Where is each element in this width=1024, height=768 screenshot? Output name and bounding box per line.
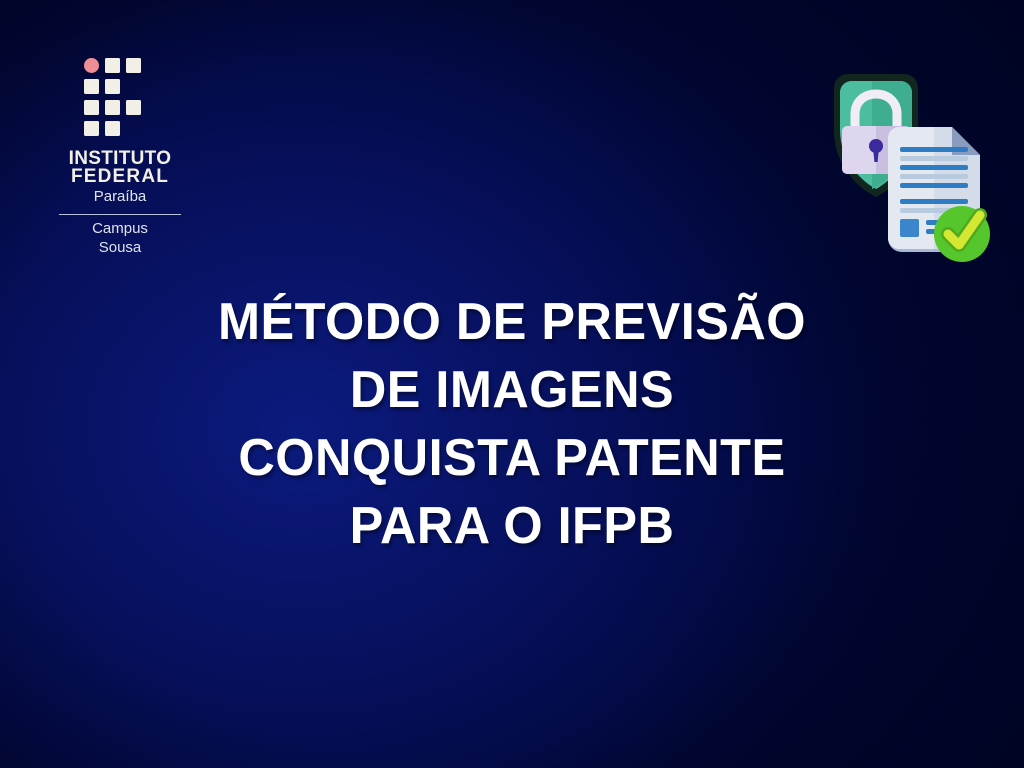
patent-security-illustration (784, 52, 1000, 268)
logo-square (126, 58, 141, 73)
logo-square (105, 58, 120, 73)
logo-square (84, 100, 99, 115)
logo-institution-name: INSTITUTO FEDERAL (50, 150, 190, 186)
logo-square (126, 100, 141, 115)
logo-dot-icon (84, 58, 99, 73)
logo-square (105, 100, 120, 115)
announcement-title: MÉTODO DE PREVISÃO DE IMAGENS CONQUISTA … (0, 288, 1024, 560)
title-line-2: DE IMAGENS (15, 356, 1008, 424)
logo-institution-line2: FEDERAL (50, 168, 190, 186)
check-circle-icon (934, 206, 990, 262)
logo-divider (59, 214, 181, 216)
logo-campus: Campus Sousa (50, 220, 190, 257)
title-line-3: CONQUISTA PATENTE (15, 424, 1008, 492)
logo-square (84, 79, 99, 94)
title-line-1: MÉTODO DE PREVISÃO (15, 288, 1008, 356)
logo-square (105, 79, 120, 94)
logo-square (105, 121, 120, 136)
slide-canvas: INSTITUTO FEDERAL Paraíba Campus Sousa (0, 0, 1024, 768)
ifpb-logo-mark (84, 58, 156, 140)
logo-square (84, 121, 99, 136)
logo-state-name: Paraíba (50, 188, 190, 207)
ifpb-logo: INSTITUTO FEDERAL Paraíba Campus Sousa (50, 58, 190, 257)
title-line-4: PARA O IFPB (15, 492, 1008, 560)
logo-campus-label: Campus (50, 220, 190, 238)
logo-campus-name: Sousa (50, 239, 190, 257)
